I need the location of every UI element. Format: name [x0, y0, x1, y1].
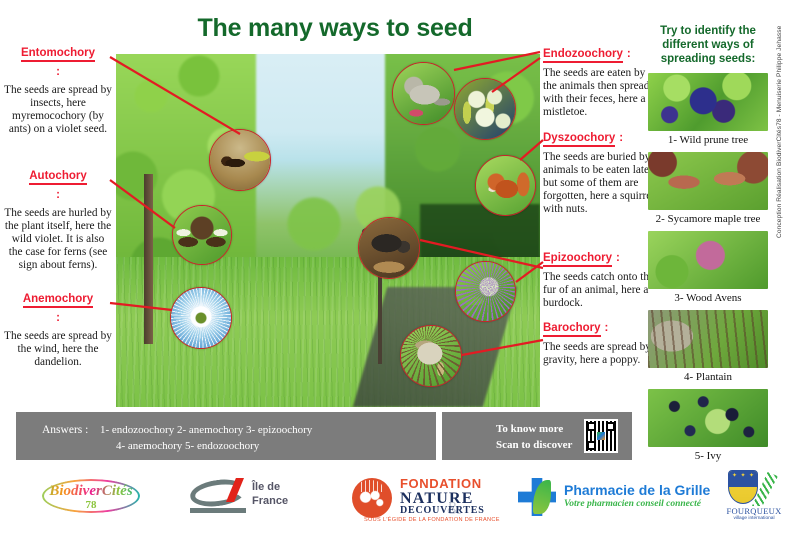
- block-anemochory-body: The seeds are spread by the wind, here t…: [4, 330, 112, 369]
- block-barochory-body: The seeds are spread by gravity, here a …: [543, 341, 655, 367]
- block-dyszoochory: Dyszoochory : The seeds are buried by an…: [543, 128, 655, 216]
- poster-root: The many ways to seed: [0, 0, 800, 533]
- pharmacie-line-2: Votre pharmacien conseil connecté: [564, 499, 701, 509]
- answers-bar: Answers : 1- endozoochory 2- anemochory …: [16, 412, 436, 460]
- block-entomochory-colon: :: [56, 66, 60, 78]
- scan-line-2: Scan to discover: [496, 438, 572, 454]
- block-dyszoochory-body: The seeds are buried by animals to be ea…: [543, 151, 655, 216]
- callout-warbler-bird: [392, 62, 455, 125]
- block-epizoochory: Epizoochory : The seeds catch onto the f…: [543, 248, 655, 310]
- block-endozoochory: Endozoochory : The seeds are eaten by th…: [543, 44, 655, 119]
- fondation-line-1: FONDATION: [400, 476, 482, 491]
- logo-fourqueux: FOURQUEUX village international: [722, 470, 784, 528]
- fourqueux-line-1: FOURQUEUX: [724, 506, 784, 516]
- block-dyszoochory-colon: :: [619, 132, 623, 144]
- fondation-line-4: SOUS L'ÉGIDE DE LA FONDATION DE FRANCE: [364, 517, 500, 523]
- scan-line-1: To know more: [496, 422, 572, 438]
- block-dyszoochory-heading: Dyszoochory: [543, 132, 615, 147]
- credit-agricole-bar-icon: [190, 508, 246, 513]
- identify-caption-2: 2- Sycamore maple tree: [648, 213, 768, 225]
- block-autochory: Autochory : The seeds are hurled by the …: [4, 170, 112, 272]
- footer-logos: BiodiverCités 78 Île de France FONDATION…: [0, 466, 800, 533]
- callout-wild-boar: [358, 217, 420, 279]
- scan-bar: To know more Scan to discover: [442, 412, 632, 460]
- biodivercites-number: 78: [36, 499, 146, 511]
- block-entomochory-heading: Entomochory: [21, 47, 95, 62]
- logo-pharmacie-de-la-grille: Pharmacie de la Grille Votre pharmacien …: [518, 476, 718, 520]
- block-barochory-colon: :: [605, 322, 609, 334]
- block-anemochory: Anemochory : The seeds are spread by the…: [4, 293, 112, 369]
- identify-image-4: [648, 310, 768, 368]
- block-endozoochory-heading: Endozoochory: [543, 48, 623, 63]
- answers-label: Answers :: [42, 424, 88, 436]
- credit-agricole-text: Île de France: [252, 481, 288, 509]
- qr-code-icon[interactable]: [584, 419, 618, 453]
- identify-title: Try to identify the different ways of sp…: [648, 24, 768, 66]
- logo-fondation-nature-decouvertes: FONDATION NATURE & DECOUVERTES SOUS L'ÉG…: [352, 472, 532, 524]
- logo-biodivercites: BiodiverCités 78: [36, 475, 146, 519]
- callout-burdock-flower: [455, 261, 516, 322]
- identify-caption-1: 1- Wild prune tree: [648, 134, 768, 146]
- fondation-acorn-globe-icon: [352, 478, 392, 518]
- identify-column: Try to identify the different ways of sp…: [648, 24, 768, 468]
- block-autochory-colon: :: [56, 189, 60, 201]
- identify-image-1: [648, 73, 768, 131]
- block-endozoochory-colon: :: [627, 48, 631, 60]
- callout-poppy-capsule: [400, 325, 462, 387]
- block-epizoochory-colon: :: [616, 252, 620, 264]
- fourqueux-line-2: village international: [724, 516, 784, 521]
- logo-credit-agricole: Île de France: [190, 478, 310, 518]
- block-autochory-heading: Autochory: [29, 170, 87, 185]
- fondation-line-3: DECOUVERTES: [400, 505, 485, 516]
- callout-red-squirrel: [475, 155, 536, 216]
- identify-image-5: [648, 389, 768, 447]
- block-entomochory-body: The seeds are spread by insects, here my…: [4, 84, 112, 136]
- callout-ant-on-violet-seed: [209, 129, 271, 191]
- biodivercites-word: BiodiverCités: [36, 483, 146, 500]
- credit-agricole-line-1: Île de: [252, 481, 288, 495]
- credit-agricole-line-2: France: [252, 495, 288, 509]
- callout-wild-violet-seedpod: [172, 205, 232, 265]
- block-endozoochory-body: The seeds are eaten by the animals then …: [543, 67, 655, 119]
- block-anemochory-heading: Anemochory: [23, 293, 93, 308]
- page-title: The many ways to seed: [120, 14, 550, 43]
- identify-image-3: [648, 231, 768, 289]
- block-barochory-heading: Barochory: [543, 322, 601, 337]
- pharmacie-line-1: Pharmacie de la Grille: [564, 482, 710, 498]
- block-autochory-body: The seeds are hurled by the plant itself…: [4, 207, 112, 272]
- callout-mistletoe-berries: [454, 78, 516, 140]
- fourqueux-shield-icon: [728, 470, 758, 504]
- block-barochory: Barochory : The seeds are spread by grav…: [543, 318, 655, 367]
- tree-trunk: [144, 174, 153, 344]
- block-epizoochory-body: The seeds catch onto the fur of an anima…: [543, 271, 655, 310]
- block-epizoochory-heading: Epizoochory: [543, 252, 612, 267]
- identify-image-2: [648, 152, 768, 210]
- callout-dandelion-clock: [170, 287, 232, 349]
- scan-text: To know more Scan to discover: [496, 422, 572, 454]
- block-anemochory-colon: :: [56, 312, 60, 324]
- identify-caption-5: 5- Ivy: [648, 450, 768, 462]
- block-entomochory: Entomochory : The seeds are spread by in…: [4, 47, 112, 136]
- identify-caption-3: 3- Wood Avens: [648, 292, 768, 304]
- vertical-credit: Conception Réalisation BiodiverCités78 -…: [776, 26, 783, 238]
- answers-row-1: 1- endozoochory 2- anemochory 3- epizooc…: [100, 424, 312, 436]
- identify-caption-4: 4- Plantain: [648, 371, 768, 383]
- answers-row-2: 4- anemochory 5- endozoochory: [116, 440, 259, 452]
